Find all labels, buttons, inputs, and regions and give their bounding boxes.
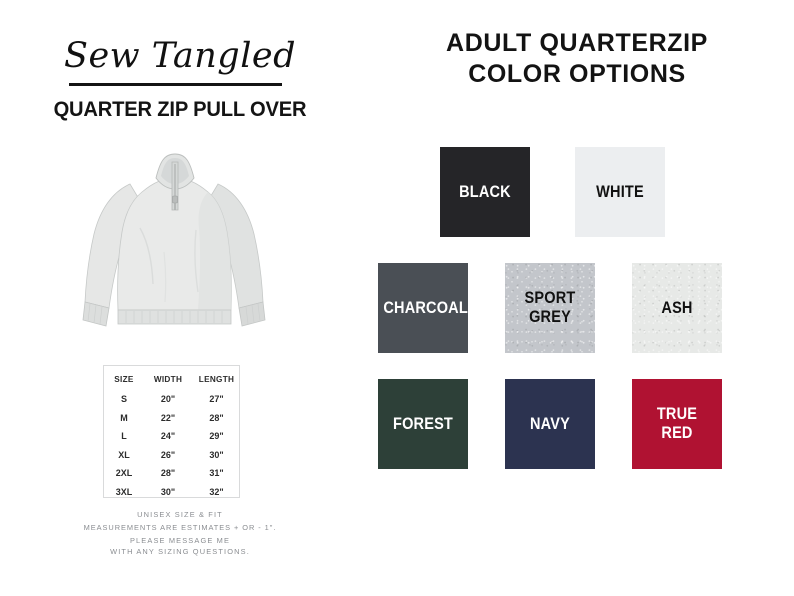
fine-print: UNISEX SIZE & FIT MEASUREMENTS ARE ESTIM… — [30, 508, 330, 557]
width-cell: 20" — [144, 390, 192, 409]
color-options-heading-line-2: COLOR OPTIONS — [360, 59, 794, 90]
swatch-row-3: FOREST NAVY TRUERED — [360, 379, 794, 469]
fine-print-line-3: PLEASE MESSAGE ME — [30, 536, 330, 547]
width-cell: 22" — [144, 409, 192, 428]
fine-print-line-2: MEASUREMENTS ARE ESTIMATES + OR - 1". — [30, 521, 330, 534]
table-row: M 22" 28" — [104, 409, 241, 428]
color-swatch-navy[interactable]: NAVY — [505, 379, 595, 469]
garment-image — [68, 132, 283, 357]
brand-underline-rule — [69, 83, 282, 86]
left-panel: Sew Tangled QUARTER ZIP PULL OVER — [0, 0, 360, 596]
length-cell: 28" — [192, 409, 241, 428]
size-chart-header-width: WIDTH — [144, 366, 192, 390]
size-cell: 3XL — [104, 483, 144, 502]
product-title: QUARTER ZIP PULL OVER — [7, 98, 353, 122]
length-cell: 29" — [192, 427, 241, 446]
size-cell: L — [104, 427, 144, 446]
fine-print-line-4: WITH ANY SIZING QUESTIONS. — [30, 547, 330, 558]
color-swatch-label: NAVY — [510, 415, 589, 434]
table-row: XL 26" 30" — [104, 446, 241, 465]
size-cell: XL — [104, 446, 144, 465]
length-cell: 27" — [192, 390, 241, 409]
table-row: 3XL 30" 32" — [104, 483, 241, 502]
size-cell: M — [104, 409, 144, 428]
color-swatch-charcoal[interactable]: CHARCOAL — [378, 263, 468, 353]
color-swatch-label: SPORTGREY — [510, 289, 589, 327]
color-swatch-grid: BLACK WHITE CHARCOAL SPORTGREY ASH — [360, 147, 794, 495]
width-cell: 30" — [144, 483, 192, 502]
size-chart-table: SIZE WIDTH LENGTH S 20" 27" M 22" 28" — [104, 366, 241, 501]
color-swatch-label: BLACK — [445, 183, 524, 202]
length-cell: 31" — [192, 464, 241, 483]
color-swatch-black[interactable]: BLACK — [440, 147, 530, 237]
color-swatch-white[interactable]: WHITE — [575, 147, 665, 237]
length-cell: 30" — [192, 446, 241, 465]
color-swatch-label: FOREST — [383, 415, 462, 434]
fine-print-line-1: UNISEX SIZE & FIT — [30, 508, 330, 521]
width-cell: 26" — [144, 446, 192, 465]
color-swatch-label: WHITE — [580, 183, 659, 202]
color-swatch-label: ASH — [637, 299, 716, 318]
size-cell: S — [104, 390, 144, 409]
color-swatch-label: TRUERED — [637, 405, 716, 443]
product-listing-image: Sew Tangled QUARTER ZIP PULL OVER — [0, 0, 794, 596]
color-options-heading: ADULT QUARTERZIP COLOR OPTIONS — [360, 28, 794, 90]
brand-name: Sew Tangled — [0, 36, 360, 76]
size-chart-header-row: SIZE WIDTH LENGTH — [104, 366, 241, 390]
color-swatch-forest[interactable]: FOREST — [378, 379, 468, 469]
size-chart-header-length: LENGTH — [192, 366, 241, 390]
width-cell: 24" — [144, 427, 192, 446]
color-swatch-ash[interactable]: ASH — [632, 263, 722, 353]
size-chart-header-size: SIZE — [104, 366, 144, 390]
width-cell: 28" — [144, 464, 192, 483]
color-swatch-sport-grey[interactable]: SPORTGREY — [505, 263, 595, 353]
color-swatch-true-red[interactable]: TRUERED — [632, 379, 722, 469]
quarter-zip-illustration — [68, 132, 283, 357]
size-cell: 2XL — [104, 464, 144, 483]
table-row: S 20" 27" — [104, 390, 241, 409]
length-cell: 32" — [192, 483, 241, 502]
table-row: L 24" 29" — [104, 427, 241, 446]
right-panel: ADULT QUARTERZIP COLOR OPTIONS BLACK WHI… — [360, 0, 794, 596]
color-swatch-label: CHARCOAL — [383, 299, 462, 318]
swatch-row-2: CHARCOAL SPORTGREY ASH — [360, 263, 794, 353]
color-options-heading-line-1: ADULT QUARTERZIP — [360, 28, 794, 59]
swatch-row-1: BLACK WHITE — [360, 147, 794, 237]
size-chart: SIZE WIDTH LENGTH S 20" 27" M 22" 28" — [103, 365, 240, 498]
table-row: 2XL 28" 31" — [104, 464, 241, 483]
